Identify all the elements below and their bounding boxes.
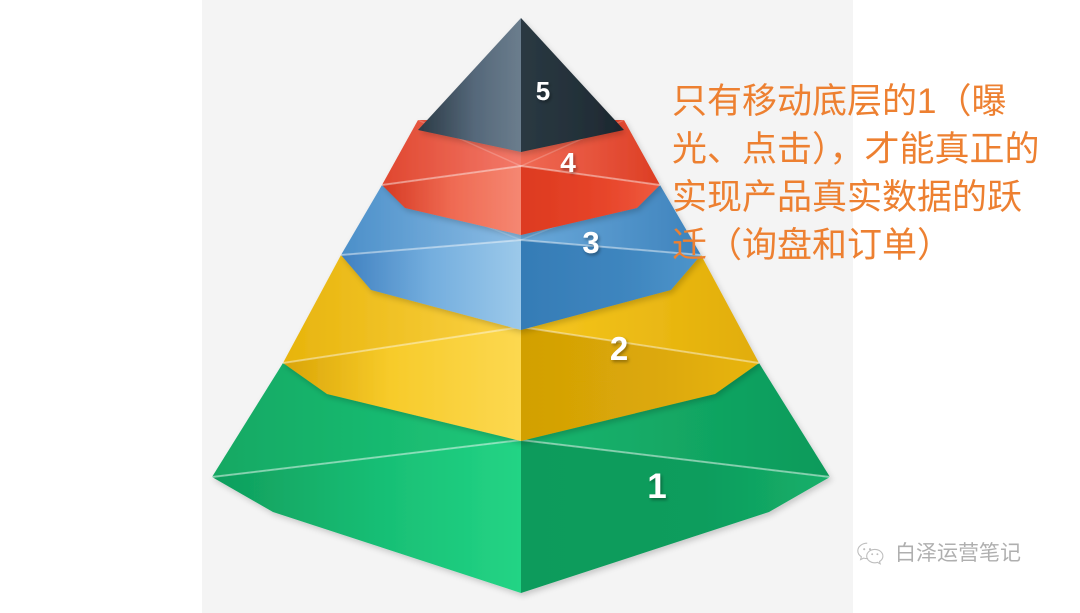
- watermark: 白泽运营笔记: [856, 541, 1021, 567]
- watermark-label: 白泽运营笔记: [895, 541, 1021, 567]
- annotation-text: 只有移动底层的1（曝光、点击），才能真正的实现产品真实数据的跃迁（询盘和订单）: [672, 78, 1050, 270]
- slide-canvas: 1 2 3 4: [0, 0, 1080, 613]
- wechat-icon: [856, 541, 886, 567]
